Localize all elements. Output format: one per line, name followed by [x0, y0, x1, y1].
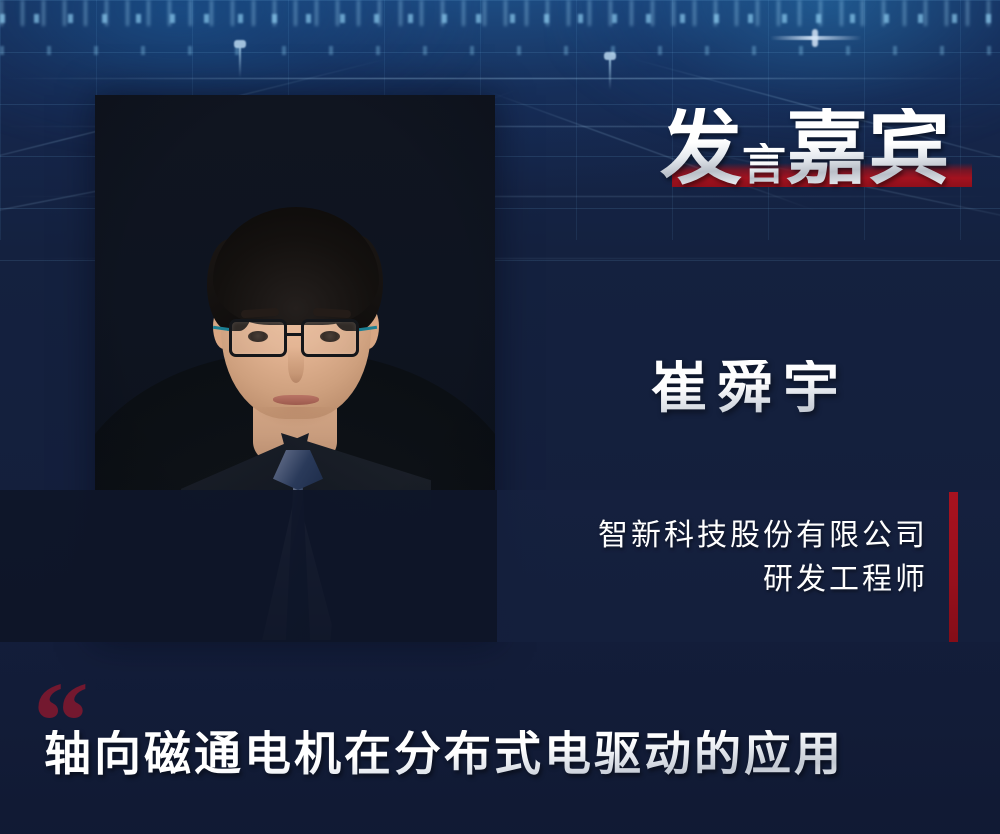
- headline-char-2: 言: [742, 143, 786, 187]
- speaker-job-title: 研发工程师: [288, 558, 928, 602]
- affiliation-accent-bar: [949, 492, 958, 642]
- speaker-organization: 智新科技股份有限公司: [288, 514, 928, 558]
- headline-text: 发 言 嘉 宾: [660, 86, 980, 190]
- affiliation-text-group: 智新科技股份有限公司 研发工程师: [288, 514, 928, 603]
- headline-char-4: 宾: [868, 108, 950, 190]
- speaker-name: 崔舜宇: [540, 360, 960, 416]
- speaker-poster: 发 言 嘉 宾 崔舜宇 智新科技股份有限公司 研发工程师 “ 轴向磁通电机在分布…: [0, 0, 1000, 834]
- headline-char-3: 嘉: [786, 108, 868, 190]
- headline-char-1: 发: [660, 108, 742, 190]
- headline: 发 言 嘉 宾: [660, 86, 980, 190]
- topic-title: 轴向磁通电机在分布式电驱动的应用: [44, 730, 974, 777]
